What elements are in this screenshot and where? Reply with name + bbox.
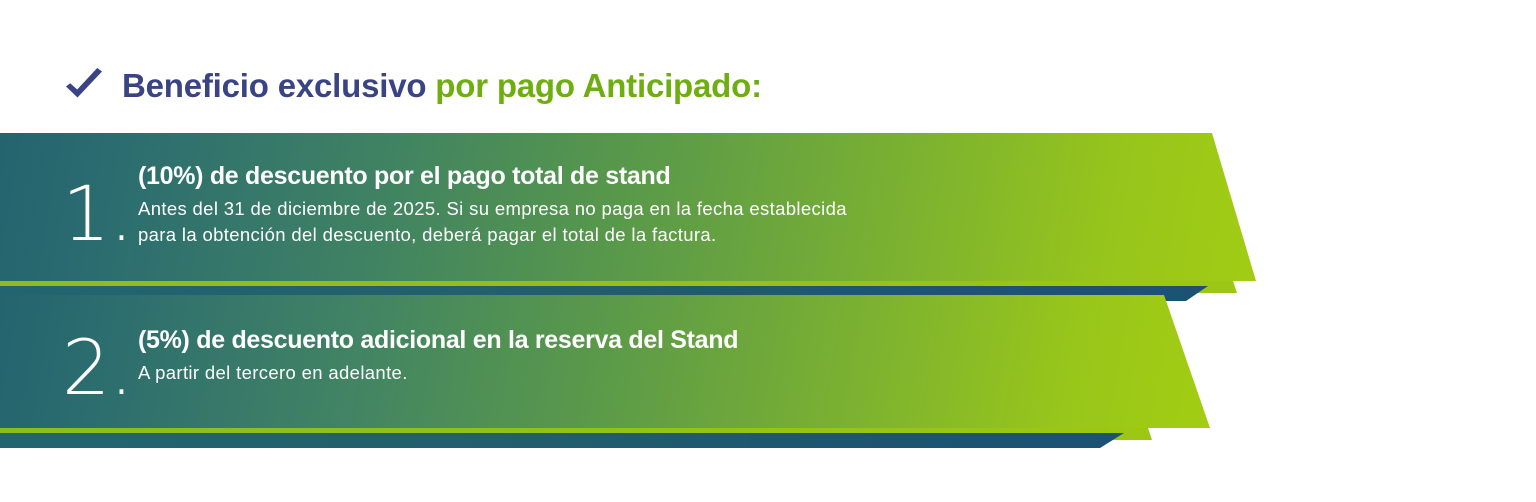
benefit-number-2: 2. [62, 330, 133, 406]
benefit-description-1: Antes del 31 de diciembre de 2025. Si su… [138, 196, 1238, 249]
benefit-body-1: (10%) de descuento por el pago total de … [138, 162, 1238, 249]
check-icon [62, 63, 106, 107]
page-title: Beneficio exclusivo por pago Anticipado: [122, 69, 762, 102]
page-title-part-accent: por pago Anticipado: [426, 67, 762, 104]
banner-2-teal-bevel-strip [0, 433, 1124, 448]
benefit-description-1-line-2: para la obtención del descuento, deberá … [138, 222, 1238, 248]
page-title-part-primary: Beneficio exclusivo [122, 67, 426, 104]
benefit-title-2: (5%) de descuento adicional en la reserv… [138, 326, 1138, 354]
benefit-body-2: (5%) de descuento adicional en la reserv… [138, 326, 1138, 386]
benefit-title-1: (10%) de descuento por el pago total de … [138, 162, 1238, 190]
benefit-description-2: A partir del tercero en adelante. [138, 360, 1138, 386]
benefit-heading: Beneficio exclusivo por pago Anticipado: [0, 55, 1536, 115]
benefit-number-1: 1. [62, 176, 133, 252]
benefit-description-1-line-1: Antes del 31 de diciembre de 2025. Si su… [138, 196, 1238, 222]
benefit-description-2-line-1: A partir del tercero en adelante. [138, 360, 1138, 386]
